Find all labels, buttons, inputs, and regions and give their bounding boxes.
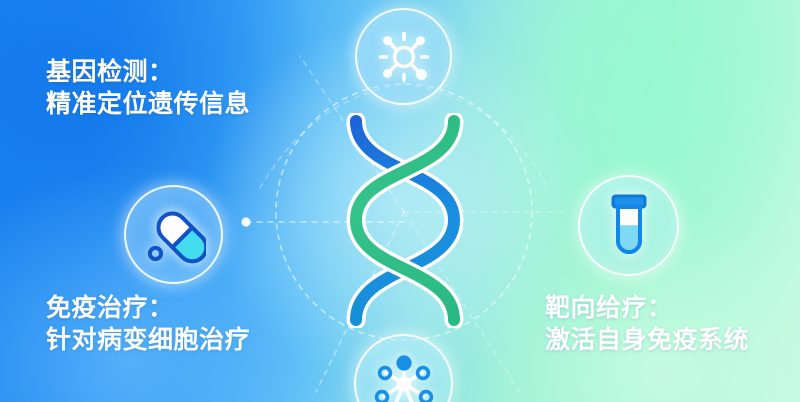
dna-double-helix bbox=[330, 113, 480, 328]
poster-canvas: 基因检测： 精准定位遗传信息 免疫治疗： 针对病变细胞治疗 靶向给疗： 激活自身… bbox=[0, 0, 800, 402]
caption-targeted-therapy: 靶向给疗： 激活自身免疫系统 bbox=[545, 292, 749, 356]
caption-gene-testing: 基因检测： 精准定位遗传信息 bbox=[46, 56, 250, 120]
icon-badge-virus bbox=[355, 8, 452, 105]
dashed-link-endpoint-dot bbox=[241, 217, 250, 226]
caption-line-1: 靶向给疗： bbox=[545, 292, 749, 324]
caption-line-1: 免疫治疗： bbox=[46, 292, 250, 324]
caption-line-2: 精准定位遗传信息 bbox=[46, 88, 250, 120]
icon-badge-test-tube bbox=[578, 175, 679, 276]
virus-icon bbox=[373, 26, 435, 88]
molecule-icon bbox=[371, 351, 437, 402]
capsule-icon bbox=[142, 203, 206, 267]
test-tube-icon bbox=[599, 193, 659, 259]
caption-line-2: 针对病变细胞治疗 bbox=[46, 324, 250, 356]
caption-line-1: 基因检测： bbox=[46, 56, 250, 88]
icon-badge-capsule bbox=[124, 185, 223, 284]
caption-line-2: 激活自身免疫系统 bbox=[545, 324, 749, 356]
caption-immunotherapy: 免疫治疗： 针对病变细胞治疗 bbox=[46, 292, 250, 356]
